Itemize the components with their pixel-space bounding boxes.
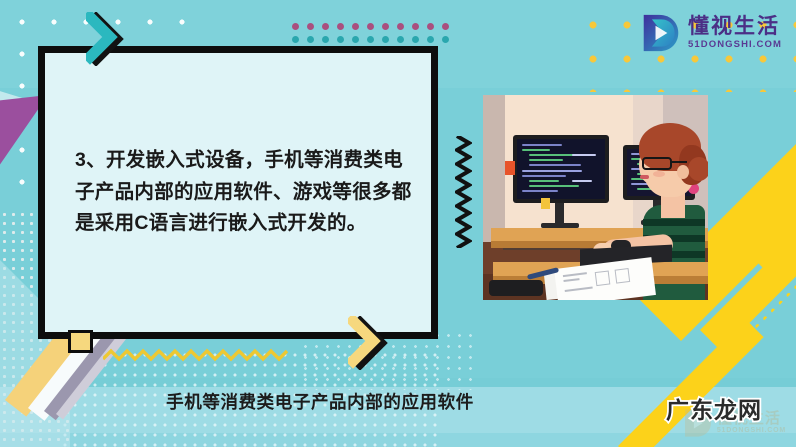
brand-text: 懂视生活 51DONGSHI.COM (688, 16, 782, 50)
dot-row-purple (292, 23, 449, 30)
monitor-left (513, 135, 609, 203)
dot-row-teal (292, 36, 449, 43)
desk-tray (489, 280, 543, 296)
watermark: 懂视生活 51DONGSHI.COM 广东龙网 (618, 387, 786, 439)
sticky-note-orange (505, 161, 515, 175)
person-lips (640, 175, 649, 179)
chevron-right-icon (86, 12, 132, 64)
person-ear (677, 165, 689, 179)
slide-canvas: 3、开发嵌入式设备，手机等消费类电子产品内部的应用软件、游戏等很多都是采用C语言… (0, 0, 796, 447)
glasses-temple (671, 161, 687, 163)
code-editor-screen (517, 139, 605, 199)
watermark-ghost-en: 51DONGSHI.COM (717, 427, 786, 435)
person-hair-bun (688, 157, 708, 181)
content-card: 3、开发嵌入式设备，手机等消费类电子产品内部的应用软件、游戏等很多都是采用C语言… (38, 46, 438, 339)
caption-subtitle: 手机等消费类电子产品内部的应用软件 (0, 389, 640, 414)
brand-logo: 懂视生活 51DONGSHI.COM (641, 12, 782, 54)
watermark-primary: 广东龙网 (666, 391, 762, 425)
glasses-icon (642, 157, 672, 170)
illustration-developer-desk (483, 95, 708, 300)
yellow-square-accent (68, 330, 93, 353)
d-play-logo-icon (641, 12, 681, 54)
brand-name-cn: 懂视生活 (688, 16, 782, 37)
sticky-note-yellow (541, 198, 550, 209)
zigzag-horizontal-icon (103, 348, 293, 367)
monitor-stand (555, 203, 564, 223)
shirt-stripe (643, 219, 705, 226)
body-text: 3、开发嵌入式设备，手机等消费类电子产品内部的应用软件、游戏等很多都是采用C语言… (75, 145, 420, 240)
chevron-right-icon (348, 316, 394, 368)
zigzag-vertical-icon (455, 136, 472, 253)
brand-name-en: 51DONGSHI.COM (688, 40, 782, 50)
person-blush (653, 171, 665, 177)
